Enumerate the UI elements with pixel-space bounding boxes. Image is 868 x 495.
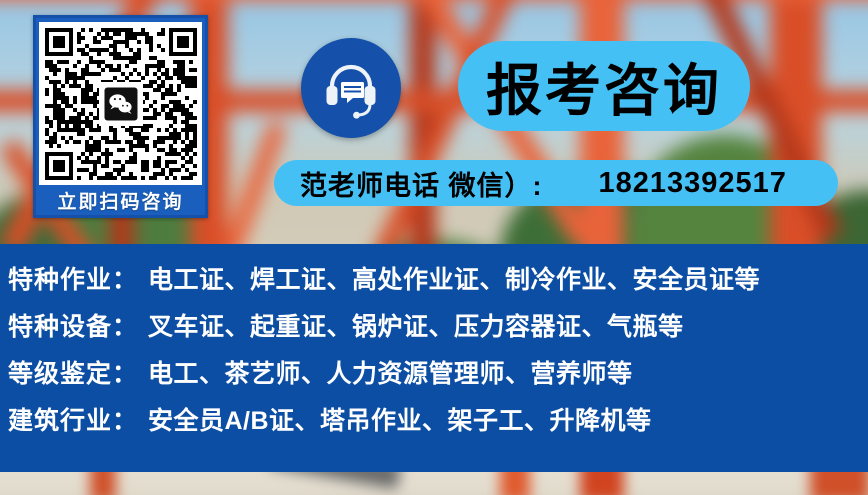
info-row: 特种作业： 电工证、焊工证、高处作业证、制冷作业、安全员证等 — [8, 260, 868, 307]
phone-number[interactable]: 18213392517 — [599, 167, 787, 200]
qr-code-card[interactable]: 立即扫码咨询 — [33, 15, 208, 218]
info-row-label: 建筑行业： — [8, 401, 148, 437]
contact-phone-pill[interactable]: 范老师电话 微信）: 18213392517 — [274, 160, 838, 206]
qr-code-image[interactable] — [39, 22, 202, 185]
info-row-label: 特种作业： — [8, 260, 148, 296]
info-row-value: 电工、茶艺师、人力资源管理师、营养师等 — [148, 354, 633, 390]
qr-card-caption: 立即扫码咨询 — [57, 185, 183, 215]
info-row-value: 电工证、焊工证、高处作业证、制冷作业、安全员证等 — [148, 260, 760, 296]
info-row: 等级鉴定： 电工、茶艺师、人力资源管理师、营养师等 — [8, 354, 868, 401]
course-categories-panel: 特种作业： 电工证、焊工证、高处作业证、制冷作业、安全员证等 特种设备： 叉车证… — [0, 244, 868, 472]
info-row-label: 等级鉴定： — [8, 354, 148, 390]
wechat-icon — [104, 87, 137, 120]
info-row: 特种设备： 叉车证、起重证、锅炉证、压力容器证、气瓶等 — [8, 307, 868, 354]
info-row: 建筑行业： 安全员A/B证、塔吊作业、架子工、升降机等 — [8, 401, 868, 448]
headset-support-icon — [301, 38, 401, 138]
phone-label: 范老师电话 微信）: — [300, 164, 543, 203]
title-pill: 报考咨询 — [458, 41, 750, 131]
info-row-value: 叉车证、起重证、锅炉证、压力容器证、气瓶等 — [148, 307, 684, 343]
promo-poster: 立即扫码咨询 报考咨询 范老师电话 微信）: 18213392517 特 — [0, 0, 868, 495]
page-title: 报考咨询 — [486, 46, 722, 127]
background-photo-bottom — [0, 472, 868, 495]
info-row-value: 安全员A/B证、塔吊作业、架子工、升降机等 — [148, 401, 652, 437]
info-row-label: 特种设备： — [8, 307, 148, 343]
